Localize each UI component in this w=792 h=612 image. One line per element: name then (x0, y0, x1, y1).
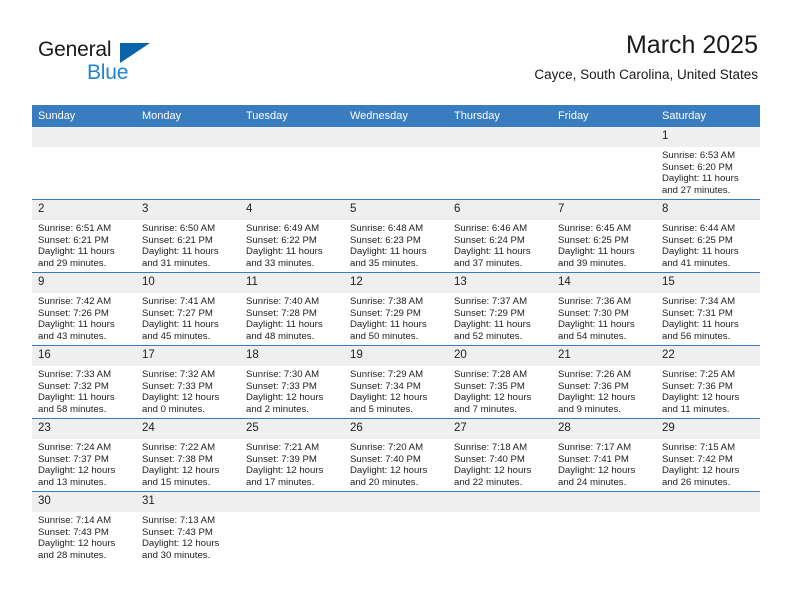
day-details: Sunrise: 6:50 AMSunset: 6:21 PMDaylight:… (136, 220, 240, 269)
day-detail-line: Sunset: 7:37 PM (38, 454, 131, 466)
day-number (136, 127, 240, 147)
day-detail-line: and 29 minutes. (38, 258, 131, 270)
day-detail-line: and 35 minutes. (350, 258, 443, 270)
day-detail-line: Sunset: 7:32 PM (38, 381, 131, 393)
day-detail-line: and 2 minutes. (246, 404, 339, 416)
calendar-day-cell[interactable]: 1Sunrise: 6:53 AMSunset: 6:20 PMDaylight… (656, 127, 760, 200)
day-number (344, 127, 448, 147)
day-detail-line: Sunset: 7:34 PM (350, 381, 443, 393)
day-detail-line: Daylight: 11 hours (38, 319, 131, 331)
day-number: 17 (136, 346, 240, 366)
day-number: 6 (448, 200, 552, 220)
day-details: Sunrise: 7:26 AMSunset: 7:36 PMDaylight:… (552, 366, 656, 415)
day-cell-inner: 20Sunrise: 7:28 AMSunset: 7:35 PMDayligh… (448, 346, 552, 418)
calendar-day-cell[interactable]: 11Sunrise: 7:40 AMSunset: 7:28 PMDayligh… (240, 273, 344, 346)
day-number: 3 (136, 200, 240, 220)
day-number: 30 (32, 492, 136, 512)
day-detail-line: Sunset: 7:29 PM (454, 308, 547, 320)
day-detail-line: Sunrise: 7:20 AM (350, 442, 443, 454)
day-detail-line: Daylight: 12 hours (38, 538, 131, 550)
calendar-empty-cell (552, 127, 656, 200)
day-cell-inner: 13Sunrise: 7:37 AMSunset: 7:29 PMDayligh… (448, 273, 552, 345)
day-number: 5 (344, 200, 448, 220)
day-number: 18 (240, 346, 344, 366)
day-number: 12 (344, 273, 448, 293)
day-detail-line: Sunset: 6:23 PM (350, 235, 443, 247)
day-cell-inner: 25Sunrise: 7:21 AMSunset: 7:39 PMDayligh… (240, 419, 344, 491)
day-detail-line: and 56 minutes. (662, 331, 755, 343)
day-detail-line: Sunrise: 7:13 AM (142, 515, 235, 527)
day-cell-inner: 24Sunrise: 7:22 AMSunset: 7:38 PMDayligh… (136, 419, 240, 491)
calendar-day-cell[interactable]: 14Sunrise: 7:36 AMSunset: 7:30 PMDayligh… (552, 273, 656, 346)
calendar-empty-cell (240, 492, 344, 565)
day-detail-line: Sunset: 7:40 PM (350, 454, 443, 466)
calendar-day-cell[interactable]: 13Sunrise: 7:37 AMSunset: 7:29 PMDayligh… (448, 273, 552, 346)
day-detail-line: Sunrise: 7:33 AM (38, 369, 131, 381)
day-detail-line: Daylight: 12 hours (558, 465, 651, 477)
day-detail-line: Daylight: 11 hours (558, 319, 651, 331)
day-number: 24 (136, 419, 240, 439)
day-detail-line: and 26 minutes. (662, 477, 755, 489)
day-detail-line: and 15 minutes. (142, 477, 235, 489)
day-cell-inner: 5Sunrise: 6:48 AMSunset: 6:23 PMDaylight… (344, 200, 448, 272)
calendar-day-cell[interactable]: 5Sunrise: 6:48 AMSunset: 6:23 PMDaylight… (344, 200, 448, 273)
day-cell-inner: 10Sunrise: 7:41 AMSunset: 7:27 PMDayligh… (136, 273, 240, 345)
day-detail-line: Sunrise: 7:28 AM (454, 369, 547, 381)
calendar-week-row: 9Sunrise: 7:42 AMSunset: 7:26 PMDaylight… (32, 273, 760, 346)
day-number: 14 (552, 273, 656, 293)
day-detail-line: Sunrise: 6:53 AM (662, 150, 755, 162)
day-cell-inner: 6Sunrise: 6:46 AMSunset: 6:24 PMDaylight… (448, 200, 552, 272)
day-detail-line: and 27 minutes. (662, 185, 755, 197)
day-detail-line: and 0 minutes. (142, 404, 235, 416)
day-detail-line: Sunrise: 7:40 AM (246, 296, 339, 308)
day-detail-line: Sunrise: 6:48 AM (350, 223, 443, 235)
day-detail-line: Sunrise: 7:29 AM (350, 369, 443, 381)
day-detail-line: and 52 minutes. (454, 331, 547, 343)
day-detail-line: Daylight: 12 hours (662, 465, 755, 477)
calendar-empty-cell (344, 492, 448, 565)
day-cell-inner: 22Sunrise: 7:25 AMSunset: 7:36 PMDayligh… (656, 346, 760, 418)
calendar-day-cell[interactable]: 18Sunrise: 7:30 AMSunset: 7:33 PMDayligh… (240, 346, 344, 419)
day-detail-line: Daylight: 11 hours (350, 246, 443, 258)
day-detail-line: Sunset: 7:31 PM (662, 308, 755, 320)
day-number: 20 (448, 346, 552, 366)
day-cell-inner: 7Sunrise: 6:45 AMSunset: 6:25 PMDaylight… (552, 200, 656, 272)
day-details: Sunrise: 7:36 AMSunset: 7:30 PMDaylight:… (552, 293, 656, 342)
day-detail-line: Sunset: 7:27 PM (142, 308, 235, 320)
day-cell-inner: 4Sunrise: 6:49 AMSunset: 6:22 PMDaylight… (240, 200, 344, 272)
day-cell-inner (656, 492, 760, 564)
weekday-header-tuesday: Tuesday (240, 105, 344, 127)
day-details: Sunrise: 7:42 AMSunset: 7:26 PMDaylight:… (32, 293, 136, 342)
day-cell-inner: 28Sunrise: 7:17 AMSunset: 7:41 PMDayligh… (552, 419, 656, 491)
day-detail-line: Sunrise: 7:42 AM (38, 296, 131, 308)
day-detail-line: and 17 minutes. (246, 477, 339, 489)
day-detail-line: Sunrise: 7:22 AM (142, 442, 235, 454)
day-cell-inner: 27Sunrise: 7:18 AMSunset: 7:40 PMDayligh… (448, 419, 552, 491)
day-detail-line: Sunrise: 7:26 AM (558, 369, 651, 381)
day-detail-line: Sunset: 7:33 PM (246, 381, 339, 393)
calendar-empty-cell (552, 492, 656, 565)
weekday-header-thursday: Thursday (448, 105, 552, 127)
day-details: Sunrise: 6:46 AMSunset: 6:24 PMDaylight:… (448, 220, 552, 269)
calendar-day-cell[interactable]: 28Sunrise: 7:17 AMSunset: 7:41 PMDayligh… (552, 419, 656, 492)
day-details: Sunrise: 7:40 AMSunset: 7:28 PMDaylight:… (240, 293, 344, 342)
day-cell-inner: 29Sunrise: 7:15 AMSunset: 7:42 PMDayligh… (656, 419, 760, 491)
calendar-day-cell[interactable]: 9Sunrise: 7:42 AMSunset: 7:26 PMDaylight… (32, 273, 136, 346)
day-detail-line: Sunrise: 6:45 AM (558, 223, 651, 235)
calendar-day-cell[interactable]: 6Sunrise: 6:46 AMSunset: 6:24 PMDaylight… (448, 200, 552, 273)
day-detail-line: Sunrise: 7:14 AM (38, 515, 131, 527)
day-number (344, 492, 448, 512)
day-detail-line: Daylight: 11 hours (454, 319, 547, 331)
day-detail-line: Sunset: 7:43 PM (142, 527, 235, 539)
calendar-day-cell[interactable]: 27Sunrise: 7:18 AMSunset: 7:40 PMDayligh… (448, 419, 552, 492)
page-title: March 2025 (534, 30, 758, 60)
calendar-day-cell[interactable]: 20Sunrise: 7:28 AMSunset: 7:35 PMDayligh… (448, 346, 552, 419)
day-details: Sunrise: 7:13 AMSunset: 7:43 PMDaylight:… (136, 512, 240, 561)
day-cell-inner: 19Sunrise: 7:29 AMSunset: 7:34 PMDayligh… (344, 346, 448, 418)
day-number: 10 (136, 273, 240, 293)
day-detail-line: and 13 minutes. (38, 477, 131, 489)
day-details: Sunrise: 7:22 AMSunset: 7:38 PMDaylight:… (136, 439, 240, 488)
day-cell-inner (448, 127, 552, 199)
day-number: 19 (344, 346, 448, 366)
day-cell-inner: 31Sunrise: 7:13 AMSunset: 7:43 PMDayligh… (136, 492, 240, 564)
day-detail-line: Daylight: 12 hours (454, 392, 547, 404)
title-block: March 2025 Cayce, South Carolina, United… (534, 30, 758, 83)
day-cell-inner: 9Sunrise: 7:42 AMSunset: 7:26 PMDaylight… (32, 273, 136, 345)
calendar-week-row: 16Sunrise: 7:33 AMSunset: 7:32 PMDayligh… (32, 346, 760, 419)
day-number: 27 (448, 419, 552, 439)
weekday-header-monday: Monday (136, 105, 240, 127)
day-detail-line: Sunrise: 7:38 AM (350, 296, 443, 308)
calendar-empty-cell (240, 127, 344, 200)
day-detail-line: Sunset: 7:33 PM (142, 381, 235, 393)
calendar-day-cell[interactable]: 25Sunrise: 7:21 AMSunset: 7:39 PMDayligh… (240, 419, 344, 492)
day-detail-line: Sunset: 7:28 PM (246, 308, 339, 320)
day-number (656, 492, 760, 512)
day-details: Sunrise: 7:25 AMSunset: 7:36 PMDaylight:… (656, 366, 760, 415)
day-detail-line: Sunset: 7:36 PM (558, 381, 651, 393)
calendar-week-row: 2Sunrise: 6:51 AMSunset: 6:21 PMDaylight… (32, 200, 760, 273)
day-details: Sunrise: 7:33 AMSunset: 7:32 PMDaylight:… (32, 366, 136, 415)
day-details: Sunrise: 7:20 AMSunset: 7:40 PMDaylight:… (344, 439, 448, 488)
day-detail-line: and 54 minutes. (558, 331, 651, 343)
day-number: 23 (32, 419, 136, 439)
day-detail-line: Sunset: 7:30 PM (558, 308, 651, 320)
day-cell-inner (136, 127, 240, 199)
calendar-week-row: 1Sunrise: 6:53 AMSunset: 6:20 PMDaylight… (32, 127, 760, 200)
day-cell-inner (240, 492, 344, 564)
day-details: Sunrise: 7:28 AMSunset: 7:35 PMDaylight:… (448, 366, 552, 415)
day-number (240, 492, 344, 512)
day-number: 28 (552, 419, 656, 439)
logo-text-general: General (38, 38, 111, 62)
day-detail-line: Sunrise: 6:49 AM (246, 223, 339, 235)
day-detail-line: Daylight: 11 hours (662, 173, 755, 185)
calendar-day-cell[interactable]: 7Sunrise: 6:45 AMSunset: 6:25 PMDaylight… (552, 200, 656, 273)
day-detail-line: Daylight: 11 hours (350, 319, 443, 331)
day-details: Sunrise: 6:48 AMSunset: 6:23 PMDaylight:… (344, 220, 448, 269)
calendar-page: General Blue March 2025 Cayce, South Car… (0, 0, 792, 612)
day-detail-line: Daylight: 12 hours (662, 392, 755, 404)
day-detail-line: Sunrise: 7:24 AM (38, 442, 131, 454)
day-detail-line: Sunset: 6:25 PM (662, 235, 755, 247)
day-cell-inner: 16Sunrise: 7:33 AMSunset: 7:32 PMDayligh… (32, 346, 136, 418)
day-cell-inner: 1Sunrise: 6:53 AMSunset: 6:20 PMDaylight… (656, 127, 760, 199)
day-detail-line: and 22 minutes. (454, 477, 547, 489)
day-number: 2 (32, 200, 136, 220)
day-detail-line: Daylight: 12 hours (350, 465, 443, 477)
day-detail-line: Sunset: 7:35 PM (454, 381, 547, 393)
calendar-day-cell[interactable]: 21Sunrise: 7:26 AMSunset: 7:36 PMDayligh… (552, 346, 656, 419)
calendar-day-cell[interactable]: 10Sunrise: 7:41 AMSunset: 7:27 PMDayligh… (136, 273, 240, 346)
general-blue-logo: General Blue (38, 38, 158, 86)
calendar-empty-cell (448, 492, 552, 565)
day-number: 16 (32, 346, 136, 366)
day-detail-line: Sunrise: 7:41 AM (142, 296, 235, 308)
day-detail-line: Sunrise: 7:17 AM (558, 442, 651, 454)
calendar-empty-cell (32, 127, 136, 200)
day-cell-inner (448, 492, 552, 564)
calendar-day-cell[interactable]: 3Sunrise: 6:50 AMSunset: 6:21 PMDaylight… (136, 200, 240, 273)
day-detail-line: Sunrise: 7:30 AM (246, 369, 339, 381)
day-details: Sunrise: 7:34 AMSunset: 7:31 PMDaylight:… (656, 293, 760, 342)
day-detail-line: Daylight: 11 hours (662, 246, 755, 258)
calendar-day-cell[interactable]: 4Sunrise: 6:49 AMSunset: 6:22 PMDaylight… (240, 200, 344, 273)
day-cell-inner (552, 127, 656, 199)
day-cell-inner (344, 492, 448, 564)
day-number: 8 (656, 200, 760, 220)
day-detail-line: Sunset: 6:22 PM (246, 235, 339, 247)
day-cell-inner (240, 127, 344, 199)
calendar-body: 1Sunrise: 6:53 AMSunset: 6:20 PMDaylight… (32, 127, 760, 564)
day-detail-line: and 30 minutes. (142, 550, 235, 562)
calendar-day-cell[interactable]: 26Sunrise: 7:20 AMSunset: 7:40 PMDayligh… (344, 419, 448, 492)
calendar-empty-cell (656, 492, 760, 565)
day-number: 1 (656, 127, 760, 147)
calendar-empty-cell (344, 127, 448, 200)
day-cell-inner: 30Sunrise: 7:14 AMSunset: 7:43 PMDayligh… (32, 492, 136, 564)
day-detail-line: and 24 minutes. (558, 477, 651, 489)
day-details: Sunrise: 6:49 AMSunset: 6:22 PMDaylight:… (240, 220, 344, 269)
day-number (448, 127, 552, 147)
day-detail-line: Sunset: 7:36 PM (662, 381, 755, 393)
day-details: Sunrise: 7:29 AMSunset: 7:34 PMDaylight:… (344, 366, 448, 415)
weekday-header-sunday: Sunday (32, 105, 136, 127)
day-cell-inner (32, 127, 136, 199)
day-detail-line: Sunrise: 7:32 AM (142, 369, 235, 381)
day-detail-line: Daylight: 12 hours (142, 465, 235, 477)
day-number: 9 (32, 273, 136, 293)
day-detail-line: and 28 minutes. (38, 550, 131, 562)
day-cell-inner: 3Sunrise: 6:50 AMSunset: 6:21 PMDaylight… (136, 200, 240, 272)
day-detail-line: and 31 minutes. (142, 258, 235, 270)
calendar-day-cell[interactable]: 30Sunrise: 7:14 AMSunset: 7:43 PMDayligh… (32, 492, 136, 565)
day-details: Sunrise: 7:38 AMSunset: 7:29 PMDaylight:… (344, 293, 448, 342)
day-details: Sunrise: 6:45 AMSunset: 6:25 PMDaylight:… (552, 220, 656, 269)
day-cell-inner: 23Sunrise: 7:24 AMSunset: 7:37 PMDayligh… (32, 419, 136, 491)
day-detail-line: Sunrise: 7:18 AM (454, 442, 547, 454)
day-number (552, 492, 656, 512)
day-detail-line: and 50 minutes. (350, 331, 443, 343)
day-cell-inner: 17Sunrise: 7:32 AMSunset: 7:33 PMDayligh… (136, 346, 240, 418)
day-detail-line: Sunset: 6:25 PM (558, 235, 651, 247)
day-detail-line: Daylight: 12 hours (38, 465, 131, 477)
weekday-header-wednesday: Wednesday (344, 105, 448, 127)
day-detail-line: Daylight: 11 hours (38, 246, 131, 258)
day-details: Sunrise: 7:18 AMSunset: 7:40 PMDaylight:… (448, 439, 552, 488)
day-details: Sunrise: 7:24 AMSunset: 7:37 PMDaylight:… (32, 439, 136, 488)
day-details: Sunrise: 7:32 AMSunset: 7:33 PMDaylight:… (136, 366, 240, 415)
day-number: 15 (656, 273, 760, 293)
day-detail-line: and 43 minutes. (38, 331, 131, 343)
day-detail-line: Sunset: 7:42 PM (662, 454, 755, 466)
day-detail-line: Daylight: 11 hours (38, 392, 131, 404)
day-details: Sunrise: 6:51 AMSunset: 6:21 PMDaylight:… (32, 220, 136, 269)
day-detail-line: Daylight: 11 hours (142, 246, 235, 258)
calendar-week-row: 23Sunrise: 7:24 AMSunset: 7:37 PMDayligh… (32, 419, 760, 492)
calendar-day-cell[interactable]: 16Sunrise: 7:33 AMSunset: 7:32 PMDayligh… (32, 346, 136, 419)
day-detail-line: Sunset: 6:24 PM (454, 235, 547, 247)
day-detail-line: and 58 minutes. (38, 404, 131, 416)
day-detail-line: Sunrise: 7:15 AM (662, 442, 755, 454)
day-detail-line: and 9 minutes. (558, 404, 651, 416)
day-details: Sunrise: 7:21 AMSunset: 7:39 PMDaylight:… (240, 439, 344, 488)
day-detail-line: Sunset: 7:39 PM (246, 454, 339, 466)
day-cell-inner: 12Sunrise: 7:38 AMSunset: 7:29 PMDayligh… (344, 273, 448, 345)
day-detail-line: and 33 minutes. (246, 258, 339, 270)
day-number: 13 (448, 273, 552, 293)
calendar-day-cell[interactable]: 29Sunrise: 7:15 AMSunset: 7:42 PMDayligh… (656, 419, 760, 492)
day-cell-inner: 15Sunrise: 7:34 AMSunset: 7:31 PMDayligh… (656, 273, 760, 345)
calendar-day-cell[interactable]: 24Sunrise: 7:22 AMSunset: 7:38 PMDayligh… (136, 419, 240, 492)
day-detail-line: Daylight: 11 hours (246, 319, 339, 331)
calendar-day-cell[interactable]: 2Sunrise: 6:51 AMSunset: 6:21 PMDaylight… (32, 200, 136, 273)
day-detail-line: and 39 minutes. (558, 258, 651, 270)
day-details: Sunrise: 7:30 AMSunset: 7:33 PMDaylight:… (240, 366, 344, 415)
page-header: General Blue March 2025 Cayce, South Car… (0, 0, 792, 104)
calendar-empty-cell (136, 127, 240, 200)
day-number: 26 (344, 419, 448, 439)
day-detail-line: Sunrise: 6:44 AM (662, 223, 755, 235)
calendar-grid: Sunday Monday Tuesday Wednesday Thursday… (32, 105, 760, 564)
day-detail-line: Sunrise: 7:34 AM (662, 296, 755, 308)
calendar-week-row: 30Sunrise: 7:14 AMSunset: 7:43 PMDayligh… (32, 492, 760, 565)
day-detail-line: Sunrise: 6:51 AM (38, 223, 131, 235)
day-number: 22 (656, 346, 760, 366)
day-detail-line: Daylight: 11 hours (454, 246, 547, 258)
day-cell-inner: 21Sunrise: 7:26 AMSunset: 7:36 PMDayligh… (552, 346, 656, 418)
day-detail-line: Sunset: 7:38 PM (142, 454, 235, 466)
calendar-day-cell[interactable]: 12Sunrise: 7:38 AMSunset: 7:29 PMDayligh… (344, 273, 448, 346)
day-detail-line: Sunset: 6:21 PM (38, 235, 131, 247)
day-detail-line: Daylight: 12 hours (350, 392, 443, 404)
day-detail-line: Daylight: 12 hours (246, 465, 339, 477)
weekday-header-friday: Friday (552, 105, 656, 127)
day-detail-line: and 37 minutes. (454, 258, 547, 270)
day-number: 31 (136, 492, 240, 512)
day-number (448, 492, 552, 512)
day-cell-inner: 26Sunrise: 7:20 AMSunset: 7:40 PMDayligh… (344, 419, 448, 491)
day-detail-line: and 41 minutes. (662, 258, 755, 270)
day-detail-line: Daylight: 12 hours (142, 392, 235, 404)
day-detail-line: Daylight: 11 hours (662, 319, 755, 331)
day-number (552, 127, 656, 147)
day-details: Sunrise: 7:14 AMSunset: 7:43 PMDaylight:… (32, 512, 136, 561)
day-detail-line: Sunrise: 7:37 AM (454, 296, 547, 308)
day-detail-line: Sunrise: 6:46 AM (454, 223, 547, 235)
calendar-day-cell[interactable]: 8Sunrise: 6:44 AMSunset: 6:25 PMDaylight… (656, 200, 760, 273)
day-cell-inner: 11Sunrise: 7:40 AMSunset: 7:28 PMDayligh… (240, 273, 344, 345)
day-details: Sunrise: 6:44 AMSunset: 6:25 PMDaylight:… (656, 220, 760, 269)
day-detail-line: Sunset: 6:21 PM (142, 235, 235, 247)
day-detail-line: Sunset: 7:26 PM (38, 308, 131, 320)
day-number: 4 (240, 200, 344, 220)
day-detail-line: and 11 minutes. (662, 404, 755, 416)
weekday-header-saturday: Saturday (656, 105, 760, 127)
day-detail-line: Sunset: 7:29 PM (350, 308, 443, 320)
day-details: Sunrise: 7:37 AMSunset: 7:29 PMDaylight:… (448, 293, 552, 342)
day-number: 29 (656, 419, 760, 439)
day-number (32, 127, 136, 147)
calendar-day-cell[interactable]: 23Sunrise: 7:24 AMSunset: 7:37 PMDayligh… (32, 419, 136, 492)
calendar-day-cell[interactable]: 19Sunrise: 7:29 AMSunset: 7:34 PMDayligh… (344, 346, 448, 419)
calendar-day-cell[interactable]: 22Sunrise: 7:25 AMSunset: 7:36 PMDayligh… (656, 346, 760, 419)
day-detail-line: and 5 minutes. (350, 404, 443, 416)
day-detail-line: Daylight: 12 hours (142, 538, 235, 550)
day-detail-line: Sunset: 7:43 PM (38, 527, 131, 539)
day-detail-line: Sunset: 6:20 PM (662, 162, 755, 174)
day-detail-line: Sunrise: 6:50 AM (142, 223, 235, 235)
day-detail-line: Daylight: 12 hours (558, 392, 651, 404)
calendar-day-cell[interactable]: 15Sunrise: 7:34 AMSunset: 7:31 PMDayligh… (656, 273, 760, 346)
day-cell-inner: 2Sunrise: 6:51 AMSunset: 6:21 PMDaylight… (32, 200, 136, 272)
day-detail-line: Sunset: 7:40 PM (454, 454, 547, 466)
day-detail-line: Daylight: 11 hours (558, 246, 651, 258)
day-cell-inner (344, 127, 448, 199)
day-details: Sunrise: 7:17 AMSunset: 7:41 PMDaylight:… (552, 439, 656, 488)
page-subtitle: Cayce, South Carolina, United States (534, 67, 758, 83)
day-detail-line: and 48 minutes. (246, 331, 339, 343)
logo-text-blue: Blue (87, 61, 128, 85)
day-details: Sunrise: 6:53 AMSunset: 6:20 PMDaylight:… (656, 147, 760, 196)
calendar-day-cell[interactable]: 31Sunrise: 7:13 AMSunset: 7:43 PMDayligh… (136, 492, 240, 565)
calendar-empty-cell (448, 127, 552, 200)
day-number (240, 127, 344, 147)
day-detail-line: Daylight: 12 hours (246, 392, 339, 404)
day-number: 21 (552, 346, 656, 366)
day-detail-line: Sunrise: 7:21 AM (246, 442, 339, 454)
day-detail-line: Sunset: 7:41 PM (558, 454, 651, 466)
day-detail-line: Sunrise: 7:36 AM (558, 296, 651, 308)
day-number: 7 (552, 200, 656, 220)
day-cell-inner (552, 492, 656, 564)
day-detail-line: Daylight: 11 hours (142, 319, 235, 331)
day-cell-inner: 14Sunrise: 7:36 AMSunset: 7:30 PMDayligh… (552, 273, 656, 345)
weekday-header-row: Sunday Monday Tuesday Wednesday Thursday… (32, 105, 760, 127)
day-detail-line: and 20 minutes. (350, 477, 443, 489)
day-detail-line: and 45 minutes. (142, 331, 235, 343)
day-cell-inner: 8Sunrise: 6:44 AMSunset: 6:25 PMDaylight… (656, 200, 760, 272)
day-detail-line: Daylight: 12 hours (454, 465, 547, 477)
calendar-day-cell[interactable]: 17Sunrise: 7:32 AMSunset: 7:33 PMDayligh… (136, 346, 240, 419)
day-cell-inner: 18Sunrise: 7:30 AMSunset: 7:33 PMDayligh… (240, 346, 344, 418)
day-details: Sunrise: 7:15 AMSunset: 7:42 PMDaylight:… (656, 439, 760, 488)
logo-triangle-icon (120, 43, 150, 63)
